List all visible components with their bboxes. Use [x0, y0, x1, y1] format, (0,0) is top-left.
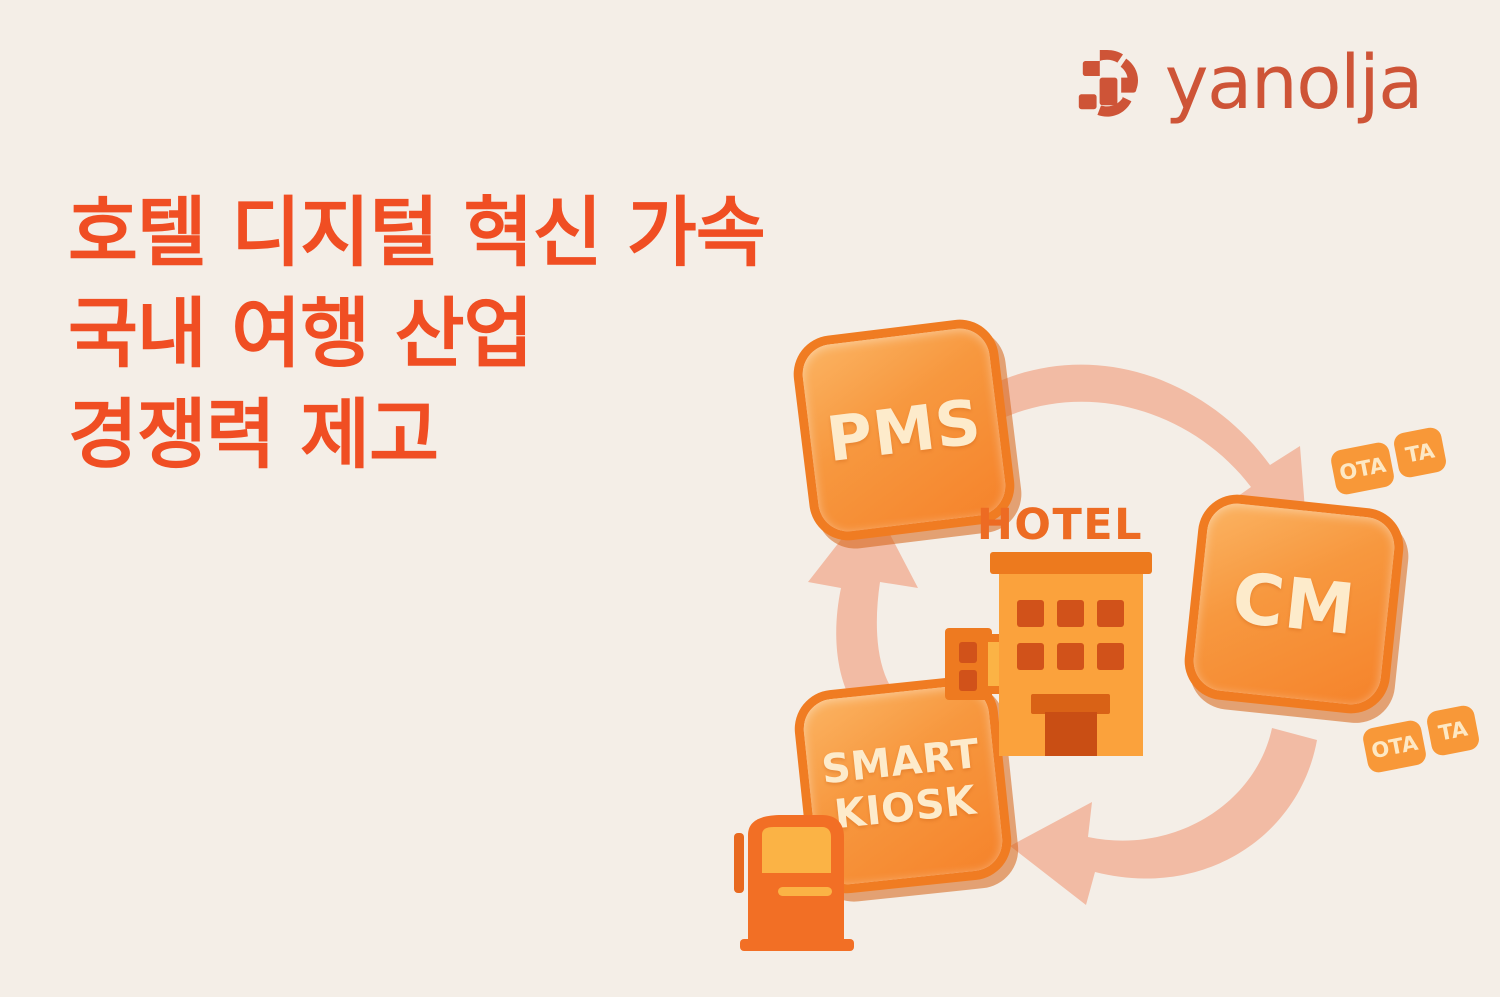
card-cm[interactable]: CM — [1191, 501, 1398, 708]
headline-line-1: 호텔 디지털 혁신 가속 — [68, 182, 765, 283]
brand-logo: yanolja — [1077, 46, 1422, 120]
ecosystem-diagram: PMS CM SMART KIOSK OTA TA OTA TA HOTEL — [700, 320, 1500, 980]
headline-line-2: 국내 여행 산업 — [68, 283, 765, 384]
kiosk-device-icon — [730, 805, 865, 965]
key-visual-canvas: yanolja 호텔 디지털 혁신 가속 국내 여행 산업 경쟁력 제고 PMS… — [0, 0, 1500, 997]
page-title: 호텔 디지털 혁신 가속 국내 여행 산업 경쟁력 제고 — [68, 182, 765, 485]
chip-ota-bottom-label: OTA — [1369, 730, 1420, 762]
chip-ta-bottom-label: TA — [1436, 716, 1469, 745]
chip-ota-top-label: OTA — [1337, 452, 1388, 484]
card-pms-label: PMS — [823, 384, 986, 475]
chip-ta-bottom[interactable]: TA — [1425, 704, 1481, 757]
chip-ta-top-label: TA — [1403, 438, 1436, 467]
hotel-building-icon — [945, 544, 1175, 770]
hotel-label: HOTEL — [945, 500, 1175, 550]
brand-wordmark: yanolja — [1165, 46, 1422, 120]
yanolja-logo-mark-icon — [1077, 48, 1143, 118]
headline-line-3: 경쟁력 제고 — [68, 384, 765, 485]
card-cm-label: CM — [1229, 557, 1360, 651]
chip-ta-top[interactable]: TA — [1392, 426, 1448, 479]
hotel-illustration: HOTEL — [945, 500, 1175, 770]
